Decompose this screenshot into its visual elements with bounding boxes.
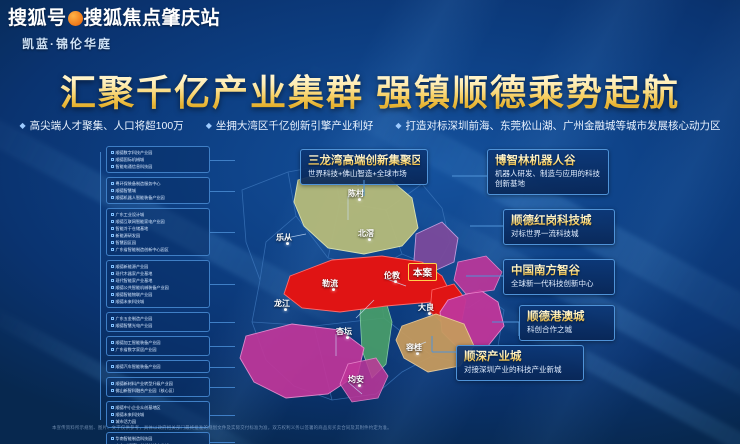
- square-bullet-icon: [111, 213, 114, 216]
- industrial-park-item: 顺德智慧城: [109, 187, 207, 194]
- industrial-park-item: 顺德互联网智能家电产业园: [109, 218, 207, 225]
- bullet-item-1: ◆ 高尖端人才聚集、人口将超100万: [20, 118, 184, 133]
- page-title: 汇聚千亿产业集群 强镇顺德乘势起航: [0, 64, 740, 116]
- map-town-label: 陈村: [348, 188, 364, 199]
- callout-subtitle: 世界科技+佛山智造+全球市场: [308, 169, 420, 179]
- industrial-park-label: 广东工业设计城: [116, 211, 145, 218]
- industrial-park-item: 顺德新材料产业转型升级产业园: [109, 380, 207, 387]
- industrial-park-group: 华南智能制造科技园广东（顺德）创新创新产业城: [106, 432, 210, 444]
- group-connector-line: [209, 346, 235, 347]
- industrial-park-item: 顺德国际机械城: [109, 156, 207, 163]
- callout-shunshen[interactable]: 顺深产业城对接深圳产业的科技产业新城: [456, 345, 584, 381]
- bullet-item-2: ◆ 坐拥大湾区千亿创新引擎产业利好: [206, 118, 374, 133]
- left-list-trunk-line: [100, 152, 101, 420]
- industrial-park-label: 顺德智慧光电产业园: [116, 322, 153, 329]
- industrial-park-group: 顺德新材料产业转型升级产业园佛山新智科融合产业园（核心区）: [106, 377, 210, 397]
- square-bullet-icon: [111, 324, 114, 327]
- map-town-label: 大良: [418, 302, 434, 313]
- sohu-logo-prefix: 搜狐号: [8, 8, 67, 29]
- industrial-park-label: 顺德新材料产业转型升级产业园: [116, 380, 173, 387]
- diamond-bullet-icon: ◆: [395, 122, 401, 130]
- industrial-park-label: 智能冷干仓储基地: [116, 225, 149, 232]
- square-bullet-icon: [111, 317, 114, 320]
- industrial-park-label: 城市活力园: [116, 418, 136, 425]
- industrial-park-group: 广东五金制造产业园顺德智慧光电产业园: [106, 312, 210, 332]
- square-bullet-icon: [111, 365, 114, 368]
- industrial-park-item: 城市活力园: [109, 418, 207, 425]
- industrial-park-group: 顺德数字科技产业园顺德国际机械城智能电通信息科技园: [106, 146, 210, 173]
- diamond-bullet-icon: ◆: [206, 122, 212, 130]
- industrial-park-label: 顺德未来科技城: [116, 298, 145, 305]
- poster-canvas: 搜狐号搜狐焦点肇庆站 凯蓝·锦伦华庭 汇聚千亿产业集群 强镇顺德乘势起航 ◆ 高…: [0, 0, 740, 444]
- sohu-logo-suffix: 搜狐焦点肇庆站: [84, 8, 221, 29]
- square-bullet-icon: [111, 293, 114, 296]
- industrial-park-label: 顺德加工智能装备产业园: [116, 339, 161, 346]
- industrial-park-item: 粤环保装备制造服务中心: [109, 180, 207, 187]
- industrial-park-item: 顺德数字科技产业园: [109, 149, 207, 156]
- square-bullet-icon: [111, 300, 114, 303]
- industrial-park-item: 顺德新能源产业园: [109, 263, 207, 270]
- industrial-park-item: 现代木器家产业基地: [109, 270, 207, 277]
- square-bullet-icon: [111, 196, 114, 199]
- diamond-bullet-icon: ◆: [20, 122, 26, 130]
- industrial-park-label: 顺德公共智能机械装备产业园: [116, 284, 169, 291]
- map-town-label: 伦教: [384, 270, 400, 281]
- square-bullet-icon: [111, 341, 114, 344]
- square-bullet-icon: [111, 182, 114, 185]
- callout-sanlongwan[interactable]: 三龙湾高端创新集聚区世界科技+佛山智造+全球市场: [300, 149, 428, 185]
- selling-point-bullets: ◆ 高尖端人才聚集、人口将超100万 ◆ 坐拥大湾区千亿创新引擎产业利好 ◆ 打…: [0, 118, 740, 133]
- industrial-park-label: 新能源研发园: [116, 232, 141, 239]
- industrial-park-label: 粤环保装备制造服务中心: [116, 180, 161, 187]
- callout-title: 顺德红岗科技城: [511, 214, 607, 228]
- industrial-park-label: 顺德未来科技城: [116, 411, 145, 418]
- square-bullet-icon: [111, 248, 114, 251]
- industrial-park-item: 智能电通信息科技园: [109, 163, 207, 170]
- square-bullet-icon: [111, 286, 114, 289]
- group-connector-line: [209, 387, 235, 388]
- square-bullet-icon: [111, 279, 114, 282]
- square-bullet-icon: [111, 220, 114, 223]
- callout-title: 顺深产业城: [464, 350, 576, 364]
- industrial-park-group: 顺德中小企业众创基地区顺德未来科技城城市活力园: [106, 401, 210, 428]
- industrial-park-label: 顺德汽车智能装备产业园: [116, 363, 161, 370]
- square-bullet-icon: [111, 227, 114, 230]
- industrial-park-label: 华南智能制造科技园: [116, 435, 153, 442]
- industrial-park-item: 现代智能家产业基地: [109, 277, 207, 284]
- square-bullet-icon: [111, 406, 114, 409]
- map-town-label: 北滘: [358, 228, 374, 239]
- group-connector-line: [209, 415, 235, 416]
- industrial-park-label: 顺德互联网智能家电产业园: [116, 218, 165, 225]
- square-bullet-icon: [111, 265, 114, 268]
- industrial-park-item: 新能源研发园: [109, 232, 207, 239]
- industrial-park-group: 顺德汽车智能装备产业园: [106, 360, 210, 373]
- industrial-park-label: 广东省数字家居产业园: [116, 346, 157, 353]
- industrial-park-item: 智能冷干仓储基地: [109, 225, 207, 232]
- sohu-fox-logo-icon: [68, 11, 83, 26]
- sohu-account-logo[interactable]: 搜狐号搜狐焦点肇庆站: [8, 3, 220, 30]
- group-connector-line: [209, 160, 235, 161]
- map-town-label: 容桂: [406, 342, 422, 353]
- industrial-park-label: 广东省智能制造创新中心园区: [116, 246, 169, 253]
- square-bullet-icon: [111, 437, 114, 440]
- callout-subtitle: 对接深圳产业的科技产业新城: [464, 365, 576, 375]
- callout-subtitle: 对标世界一流科技城: [511, 229, 607, 239]
- group-connector-line: [209, 367, 235, 368]
- map-town-label: 乐从: [276, 232, 292, 243]
- callout-title: 博智林机器人谷: [495, 154, 601, 168]
- industrial-park-group: 顺德新能源产业园现代木器家产业基地现代智能家产业基地顺德公共智能机械装备产业园顺…: [106, 260, 210, 308]
- industrial-park-item: 顺德中小企业众创基地区: [109, 404, 207, 411]
- callout-nanfangzhigu[interactable]: 中国南方智谷全球新一代科技创新中心: [503, 259, 615, 295]
- industrial-park-group: 顺德加工智能装备产业园广东省数字家居产业园: [106, 336, 210, 356]
- industrial-park-label: 广东五金制造产业园: [116, 315, 153, 322]
- callout-subtitle: 机器人研发、制造与应用的科技创新基地: [495, 169, 601, 189]
- industrial-park-item: 顺德未来科技城: [109, 298, 207, 305]
- group-connector-line: [209, 322, 235, 323]
- industrial-park-item: 顺德智能物联产业园: [109, 291, 207, 298]
- industrial-park-item: 顺德未来科技城: [109, 411, 207, 418]
- square-bullet-icon: [111, 413, 114, 416]
- map-town-label: 均安: [348, 374, 364, 385]
- industrial-park-item: 广东五金制造产业园: [109, 315, 207, 322]
- square-bullet-icon: [111, 272, 114, 275]
- square-bullet-icon: [111, 420, 114, 423]
- project-brand-name: 凯蓝·锦伦华庭: [22, 35, 112, 52]
- industrial-park-item: 广东工业设计城: [109, 211, 207, 218]
- callout-title: 顺德港澳城: [527, 310, 607, 324]
- square-bullet-icon: [111, 151, 114, 154]
- group-connector-line: [209, 191, 235, 192]
- industrial-park-item: 顺德公共智能机械装备产业园: [109, 284, 207, 291]
- industrial-park-label: 顺德智能物联产业园: [116, 291, 153, 298]
- industrial-park-label: 顺德新能源产业园: [116, 263, 149, 270]
- callout-subtitle: 全球新一代科技创新中心: [511, 279, 607, 289]
- industrial-park-label: 智能电通信息科技园: [116, 163, 153, 170]
- industrial-park-item: 广东省数字家居产业园: [109, 346, 207, 353]
- industrial-park-label: 智慧园区园: [116, 239, 136, 246]
- callout-subtitle: 科创合作之城: [527, 325, 607, 335]
- industrial-park-item: 智慧园区园: [109, 239, 207, 246]
- industrial-park-item: 顺德机器人智能装备产业园: [109, 194, 207, 201]
- industrial-park-item: 华南智能制造科技园: [109, 435, 207, 442]
- group-connector-line: [209, 284, 235, 285]
- group-connector-line: [209, 232, 235, 233]
- industrial-park-item: 顺德汽车智能装备产业园: [109, 363, 207, 370]
- industrial-park-group: 广东工业设计城顺德互联网智能家电产业园智能冷干仓储基地新能源研发园智慧园区园广东…: [106, 208, 210, 256]
- subject-property-marker[interactable]: 本案: [408, 263, 437, 281]
- industrial-park-label: 现代智能家产业基地: [116, 277, 153, 284]
- square-bullet-icon: [111, 389, 114, 392]
- bullet-item-3: ◆ 打造对标深圳前海、东莞松山湖、广州金融城等城市发展核心动力区: [395, 118, 720, 133]
- bullet-text-1: 高尖端人才聚集、人口将超100万: [30, 118, 184, 133]
- square-bullet-icon: [111, 165, 114, 168]
- industrial-park-item: 佛山新智科融合产业园（核心区）: [109, 387, 207, 394]
- map-town-label: 龙江: [274, 298, 290, 309]
- square-bullet-icon: [111, 241, 114, 244]
- callout-honggang[interactable]: 顺德红岗科技城对标世界一流科技城: [503, 209, 615, 245]
- square-bullet-icon: [111, 234, 114, 237]
- group-connector-line: [209, 442, 235, 443]
- map-town-label: 杏坛: [336, 326, 352, 337]
- map-town-label: 勒流: [322, 278, 338, 289]
- industrial-park-label: 顺德中小企业众创基地区: [116, 404, 161, 411]
- industrial-park-label: 顺德国际机械城: [116, 156, 145, 163]
- square-bullet-icon: [111, 158, 114, 161]
- industrial-park-group: 粤环保装备制造服务中心顺德智慧城顺德机器人智能装备产业园: [106, 177, 210, 204]
- industrial-park-item: 广东省智能制造创新中心园区: [109, 246, 207, 253]
- callout-title: 三龙湾高端创新集聚区: [308, 154, 420, 168]
- industrial-park-label: 佛山新智科融合产业园（核心区）: [116, 387, 177, 394]
- industrial-park-label: 顺德机器人智能装备产业园: [116, 194, 165, 201]
- square-bullet-icon: [111, 189, 114, 192]
- callout-title: 中国南方智谷: [511, 264, 607, 278]
- sohu-header-bar: 搜狐号搜狐焦点肇庆站 凯蓝·锦伦华庭: [0, 0, 740, 56]
- square-bullet-icon: [111, 382, 114, 385]
- industrial-park-label: 现代木器家产业基地: [116, 270, 153, 277]
- callout-bozhilin[interactable]: 博智林机器人谷机器人研发、制造与应用的科技创新基地: [487, 149, 609, 195]
- industrial-park-label: 顺德智慧城: [116, 187, 136, 194]
- industrial-park-item: 顺德智慧光电产业园: [109, 322, 207, 329]
- bullet-text-3: 打造对标深圳前海、东莞松山湖、广州金融城等城市发展核心动力区: [406, 118, 721, 133]
- industrial-park-label: 顺德数字科技产业园: [116, 149, 153, 156]
- industrial-park-item: 顺德加工智能装备产业园: [109, 339, 207, 346]
- bullet-text-2: 坐拥大湾区千亿创新引擎产业利好: [216, 118, 374, 133]
- industrial-park-list: 顺德数字科技产业园顺德国际机械城智能电通信息科技园粤环保装备制造服务中心顺德智慧…: [106, 146, 210, 444]
- square-bullet-icon: [111, 348, 114, 351]
- legal-disclaimer: 本宣传资料所示规划、图片、文字仅供参考，具体以政府相关部门最终批准的规划文件及实…: [52, 425, 692, 431]
- callout-gangaocheng[interactable]: 顺德港澳城科创合作之城: [519, 305, 615, 341]
